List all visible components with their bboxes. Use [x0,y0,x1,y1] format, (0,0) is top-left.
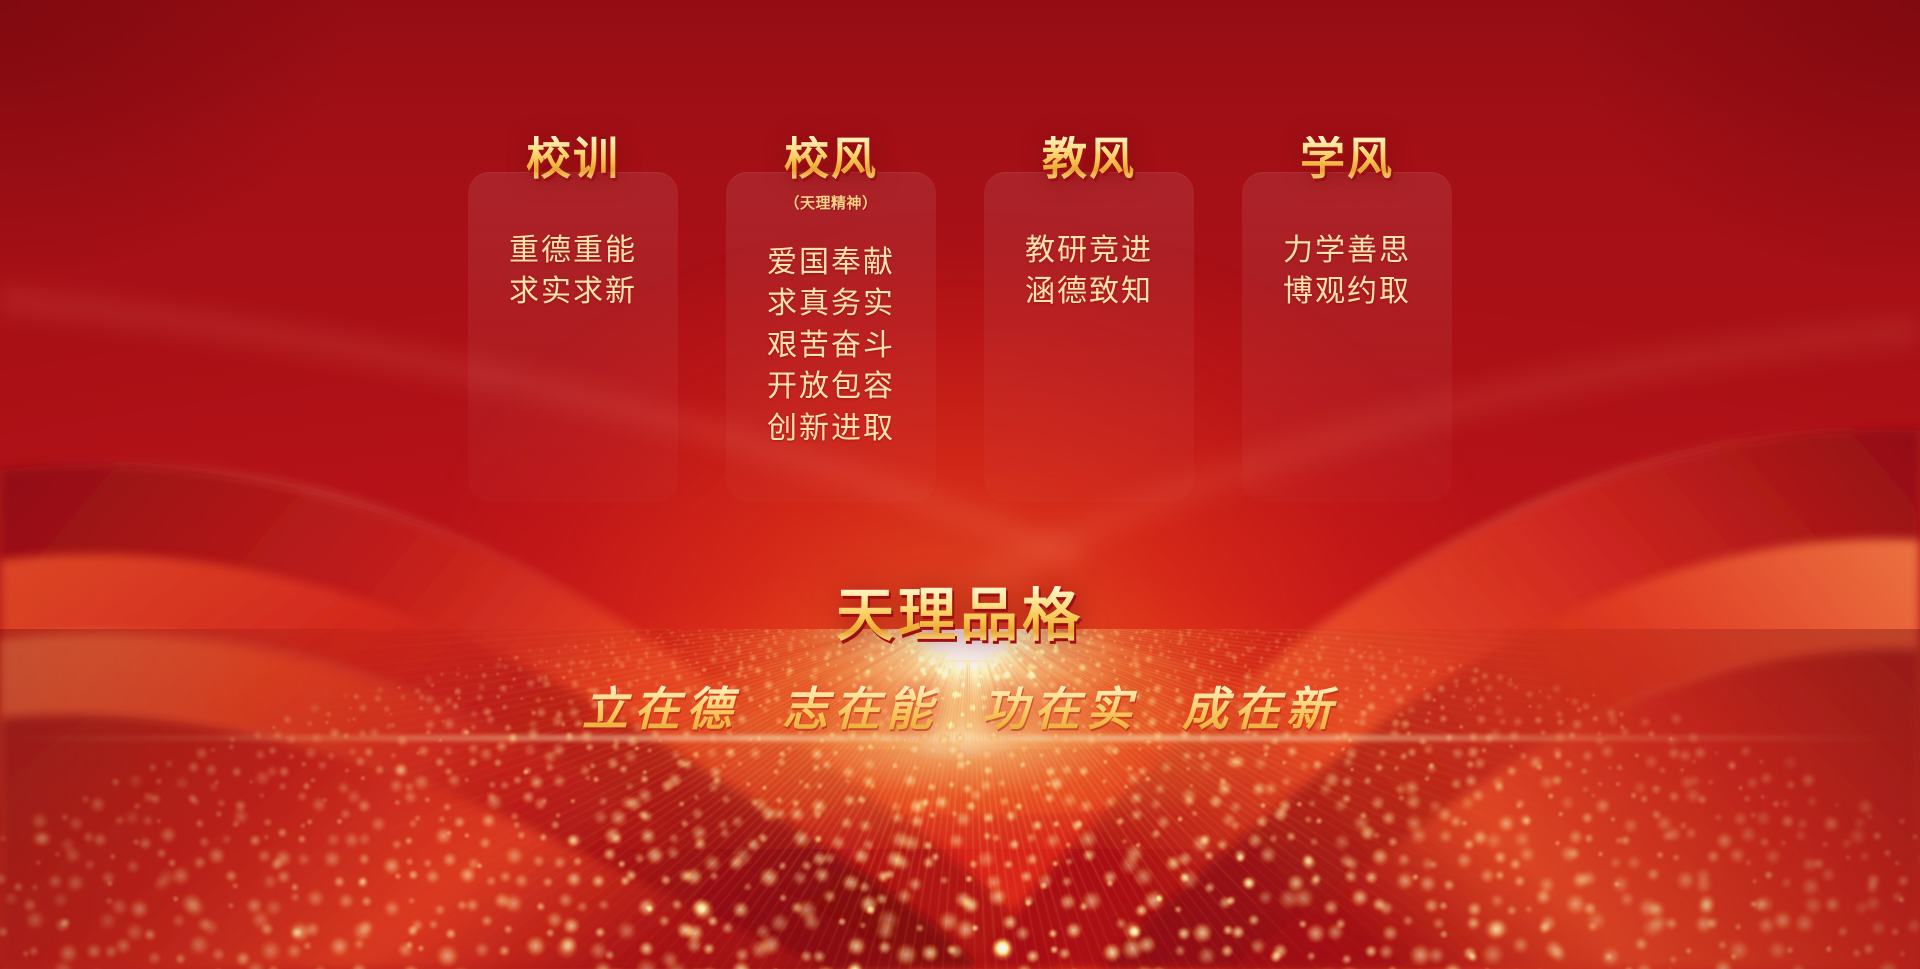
card-motto-lines: 重德重能 求实求新 [468,230,678,313]
brand-divider [905,660,1015,662]
card-school-spirit[interactable]: 校风 （天理精神） 爱国奉献 求真务实 艰苦奋斗 开放包容 创新进取 [726,172,936,502]
card-line: 博观约取 [1283,271,1411,312]
card-school-spirit-lines: 爱国奉献 求真务实 艰苦奋斗 开放包容 创新进取 [726,242,936,449]
card-motto[interactable]: 校训 重德重能 求实求新 [468,172,678,502]
card-teaching-style[interactable]: 教风 教研竞进 涵德致知 [984,172,1194,502]
card-line: 求实求新 [509,271,637,312]
card-motto-title: 校训 [468,136,678,181]
card-teaching-style-lines: 教研竞进 涵德致知 [984,230,1194,313]
card-school-spirit-subtitle: （天理精神） [726,192,936,213]
card-line: 涵德致知 [1025,271,1153,312]
card-teaching-style-title: 教风 [984,136,1194,181]
brand-slogan: 立在德 志在能 功在实 成在新 [582,684,1338,735]
card-study-style-title: 学风 [1242,136,1452,181]
pillar-card-row: 校训 重德重能 求实求新 校风 （天理精神） 爱国奉献 求真务实 艰苦奋斗 开放… [0,172,1920,502]
card-line: 艰苦奋斗 [767,325,895,366]
card-study-style-lines: 力学善思 博观约取 [1242,230,1452,313]
card-line: 求真务实 [767,283,895,324]
bottom-banner: 天理品格 立在德 志在能 功在实 成在新 [0,586,1920,735]
card-study-style[interactable]: 学风 力学善思 博观约取 [1242,172,1452,502]
brand-title: 天理品格 [836,586,1084,644]
card-line: 创新进取 [767,408,895,449]
card-line: 教研竞进 [1025,230,1153,271]
card-line: 重德重能 [509,230,637,271]
card-line: 力学善思 [1283,230,1411,271]
card-line: 爱国奉献 [767,242,895,283]
card-school-spirit-title: 校风 [726,136,936,181]
card-line: 开放包容 [767,366,895,407]
